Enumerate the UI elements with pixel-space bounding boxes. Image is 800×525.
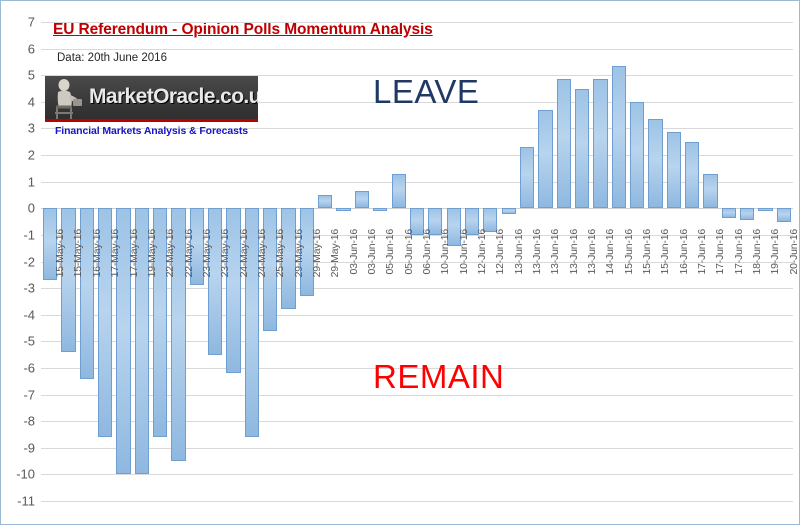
x-axis-tick: 03-Jun-16 <box>334 22 352 501</box>
x-axis-tick: 29-May-16 <box>298 22 316 501</box>
y-axis-tick: 7 <box>1 15 35 30</box>
oracle-figure-icon <box>49 77 87 121</box>
x-axis-tick: 29-May-16 <box>279 22 297 501</box>
chart-page: EU Referendum - Opinion Polls Momentum A… <box>0 0 800 525</box>
x-axis-tick: 13-Jun-16 <box>573 22 591 501</box>
y-axis-tick: 6 <box>1 41 35 56</box>
annotation-leave: LEAVE <box>373 73 479 111</box>
x-axis-tick: 17-Jun-16 <box>701 22 719 501</box>
x-axis-tick: 14-Jun-16 <box>591 22 609 501</box>
y-axis-tick: -4 <box>1 307 35 322</box>
x-axis-tick: 16-Jun-16 <box>665 22 683 501</box>
marketoracle-logo: MarketOracle.co.uk Financial Markets Ana… <box>45 76 258 137</box>
x-axis-tick: 13-Jun-16 <box>536 22 554 501</box>
logo-tagline: Financial Markets Analysis & Forecasts <box>45 125 258 137</box>
y-axis-tick: 2 <box>1 148 35 163</box>
x-axis-tick: 29-May-16 <box>316 22 334 501</box>
y-axis-tick: -10 <box>1 467 35 482</box>
x-axis-tick: 13-Jun-16 <box>500 22 518 501</box>
x-axis-tick: 15-Jun-16 <box>628 22 646 501</box>
y-axis-tick: -11 <box>1 494 35 509</box>
y-axis-tick: -3 <box>1 281 35 296</box>
x-axis-tick-label: 20-Jun-16 <box>788 229 800 274</box>
x-axis-tick: 25-May-16 <box>261 22 279 501</box>
y-axis-tick: 3 <box>1 121 35 136</box>
x-axis-tick: 15-Jun-16 <box>646 22 664 501</box>
y-axis-tick: 5 <box>1 68 35 83</box>
y-axis-tick: -7 <box>1 387 35 402</box>
gridline <box>41 501 793 502</box>
annotation-remain: REMAIN <box>373 358 504 396</box>
x-axis-tick: 20-Jun-16 <box>775 22 793 501</box>
x-axis-tick: 15-Jun-16 <box>610 22 628 501</box>
x-axis-tick: 12-Jun-16 <box>481 22 499 501</box>
x-axis-tick: 17-Jun-16 <box>720 22 738 501</box>
y-axis-tick: -6 <box>1 360 35 375</box>
x-axis-tick: 13-Jun-16 <box>555 22 573 501</box>
x-axis-tick: 13-Jun-16 <box>518 22 536 501</box>
x-axis-tick: 03-Jun-16 <box>353 22 371 501</box>
y-axis-tick: -8 <box>1 414 35 429</box>
logo-bar: MarketOracle.co.uk <box>45 76 258 122</box>
y-axis-tick: -1 <box>1 227 35 242</box>
y-axis-tick: 1 <box>1 174 35 189</box>
x-axis-tick: 19-Jun-16 <box>756 22 774 501</box>
x-axis-tick: 18-Jun-16 <box>738 22 756 501</box>
y-axis-tick: -9 <box>1 440 35 455</box>
y-axis-tick: -2 <box>1 254 35 269</box>
y-axis-tick: -5 <box>1 334 35 349</box>
x-axis-tick: 17-Jun-16 <box>683 22 701 501</box>
y-axis-tick: 4 <box>1 94 35 109</box>
logo-text: MarketOracle.co.uk <box>89 85 258 109</box>
y-axis-tick: 0 <box>1 201 35 216</box>
